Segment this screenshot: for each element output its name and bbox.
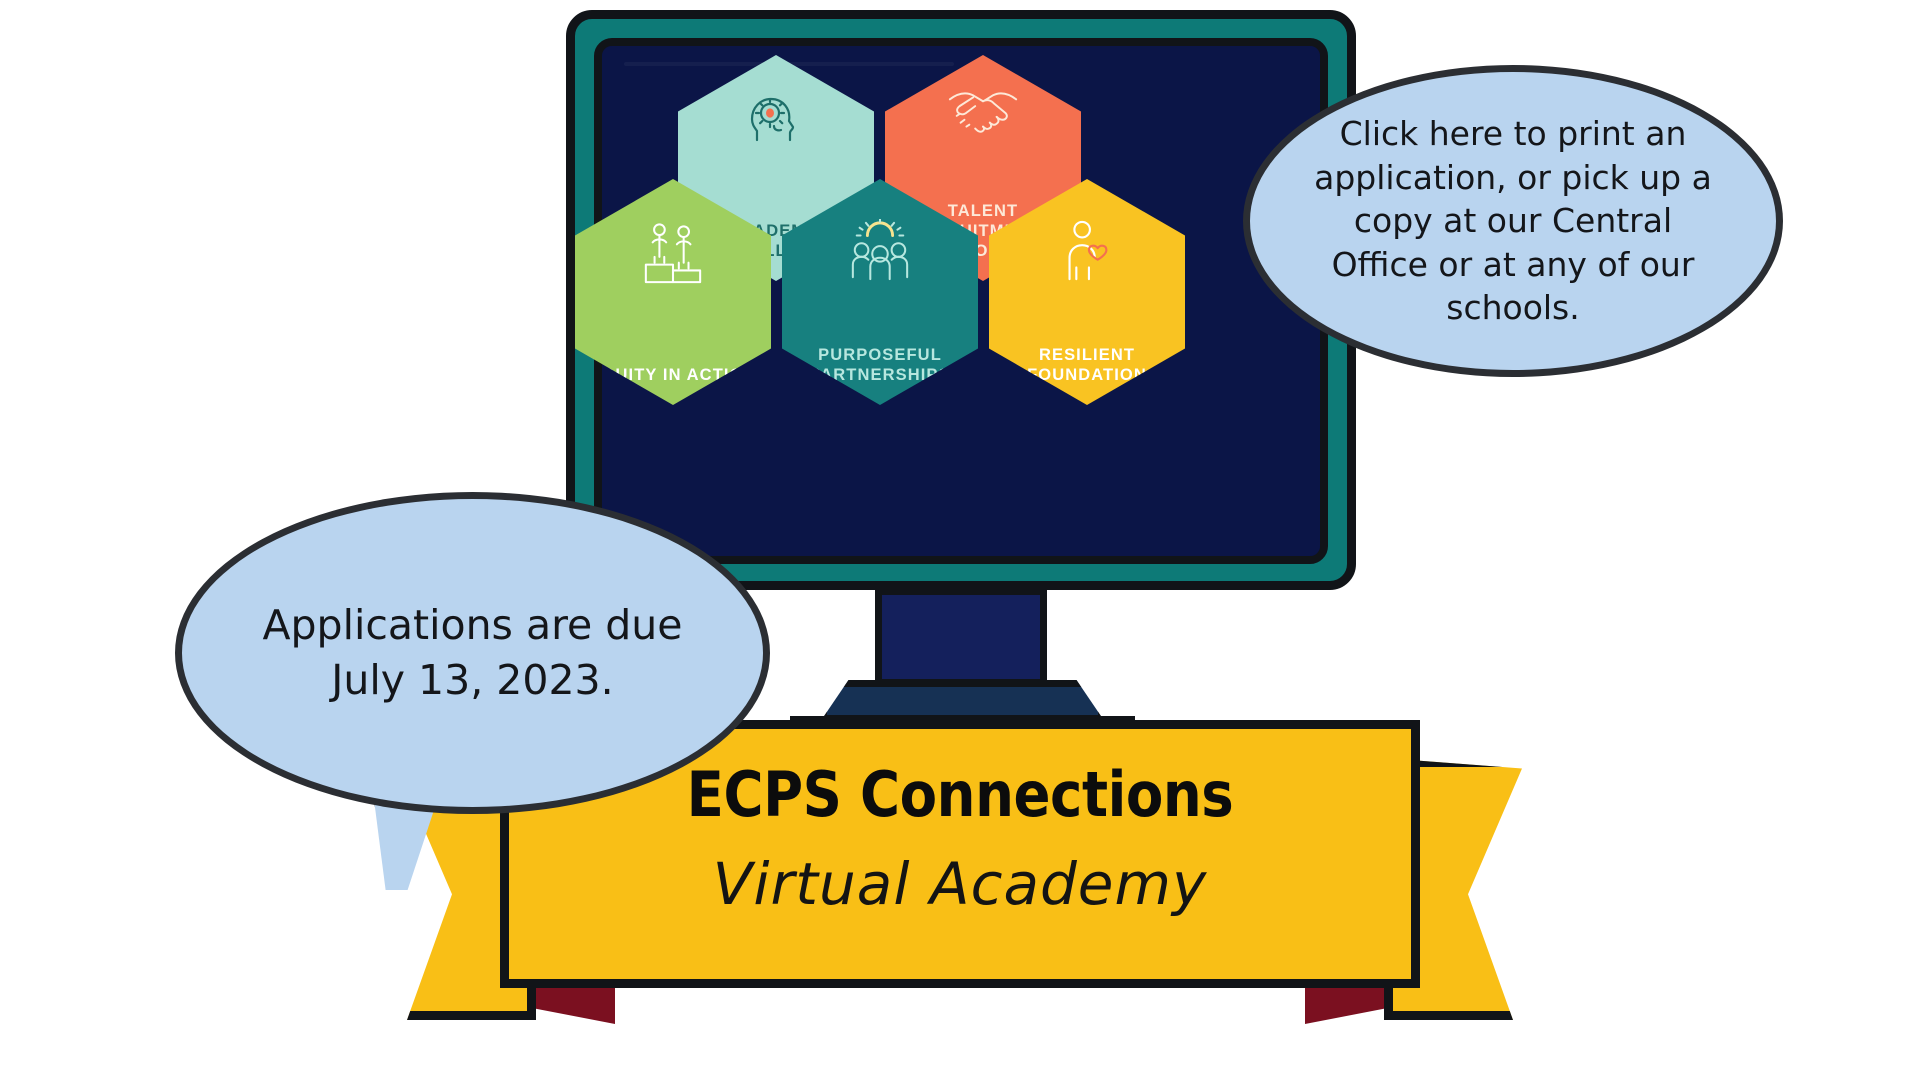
monitor-stand-neck xyxy=(875,588,1047,686)
handshake-icon xyxy=(944,83,1022,139)
callout-text: Applications are due July 13, 2023. xyxy=(238,598,708,708)
print-application-callout[interactable]: Click here to print an application, or p… xyxy=(1243,65,1783,377)
head-with-gear-icon xyxy=(744,85,808,149)
people-on-podium-icon xyxy=(637,221,709,285)
pillar-label: PURPOSEFUL PARTNERSHIPS xyxy=(795,345,965,385)
strategic-pillars-hex-grid: ACADEMIC EXCELLENCE TALENT RECRUITMENT + xyxy=(620,55,1320,410)
banner-subtitle: Virtual Academy xyxy=(500,850,1420,918)
callout-text: Click here to print an application, or p… xyxy=(1308,112,1718,330)
application-deadline-callout[interactable]: Applications are due July 13, 2023. xyxy=(175,492,770,814)
pillar-label: RESILIENT FOUNDATION xyxy=(1002,345,1172,385)
monitor-stand-neck-inner xyxy=(882,595,1040,679)
poster-canvas: ACADEMIC EXCELLENCE TALENT RECRUITMENT + xyxy=(0,0,1920,1080)
person-with-heart-icon xyxy=(1058,219,1116,283)
three-people-sunrise-icon xyxy=(841,219,919,283)
